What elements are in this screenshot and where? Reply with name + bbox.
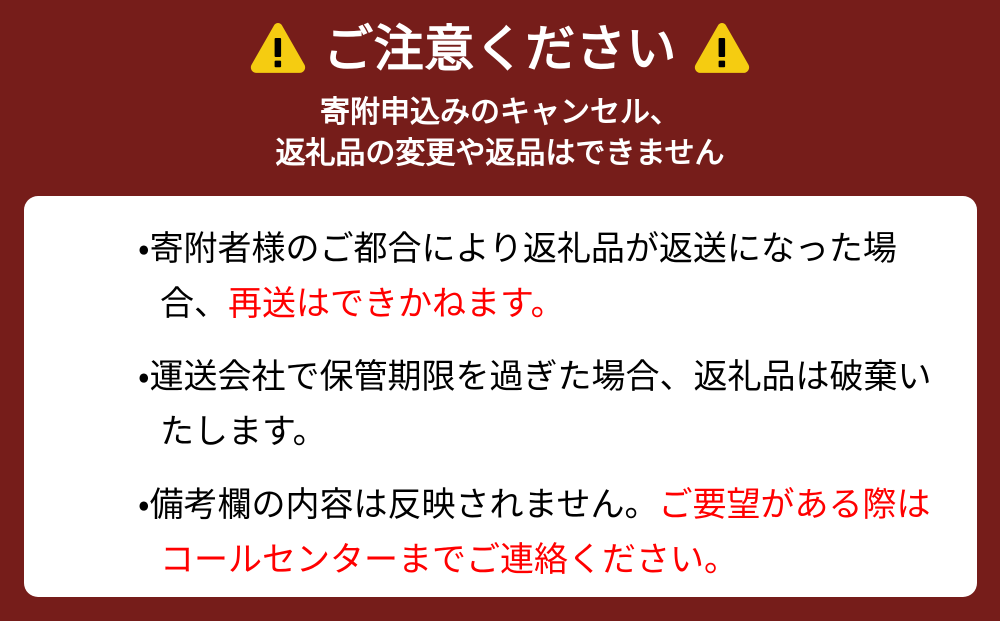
banner-title-row: ご注意ください xyxy=(249,18,751,80)
warning-triangle-icon xyxy=(249,21,307,77)
bullet-marker: ・ xyxy=(138,230,150,268)
banner-subtitle: 寄附申込みのキャンセル、 返礼品の変更や返品はできません xyxy=(275,92,724,175)
attention-notice-banner: ご注意ください 寄附申込みのキャンセル、 返礼品の変更や返品はできません ・寄附… xyxy=(0,0,1000,621)
banner-header: ご注意ください 寄附申込みのキャンセル、 返礼品の変更や返品はできません xyxy=(0,0,1000,196)
list-item: ・運送会社で保管期限を過ぎた場合、返礼品は破棄いたします。 xyxy=(138,350,957,460)
bullet-marker: ・ xyxy=(138,358,150,396)
notice-text-black: 運送会社で保管期限を過ぎた場合、返礼品は破棄いたします。 xyxy=(150,358,932,451)
list-item: ・寄附者様のご都合により返礼品が返送になった場合、再送はできかねます。 xyxy=(138,222,957,332)
page-title: ご注意ください xyxy=(323,24,677,74)
notice-text-red: 再送はできかねます。 xyxy=(228,285,565,323)
warning-triangle-icon xyxy=(693,21,751,77)
bullet-marker: ・ xyxy=(138,486,150,524)
notice-text-black: 備考欄の内容は反映されません。 xyxy=(150,486,659,524)
list-item: ・備考欄の内容は反映されません。ご要望がある際はコールセンターまでご連絡ください… xyxy=(138,478,957,588)
banner-subtitle-line-1: 寄附申込みのキャンセル、 xyxy=(275,92,724,133)
banner-subtitle-line-2: 返礼品の変更や返品はできません xyxy=(275,133,724,174)
notice-card: ・寄附者様のご都合により返礼品が返送になった場合、再送はできかねます。 ・運送会… xyxy=(24,196,977,597)
notice-list: ・寄附者様のご都合により返礼品が返送になった場合、再送はできかねます。 ・運送会… xyxy=(138,222,957,588)
